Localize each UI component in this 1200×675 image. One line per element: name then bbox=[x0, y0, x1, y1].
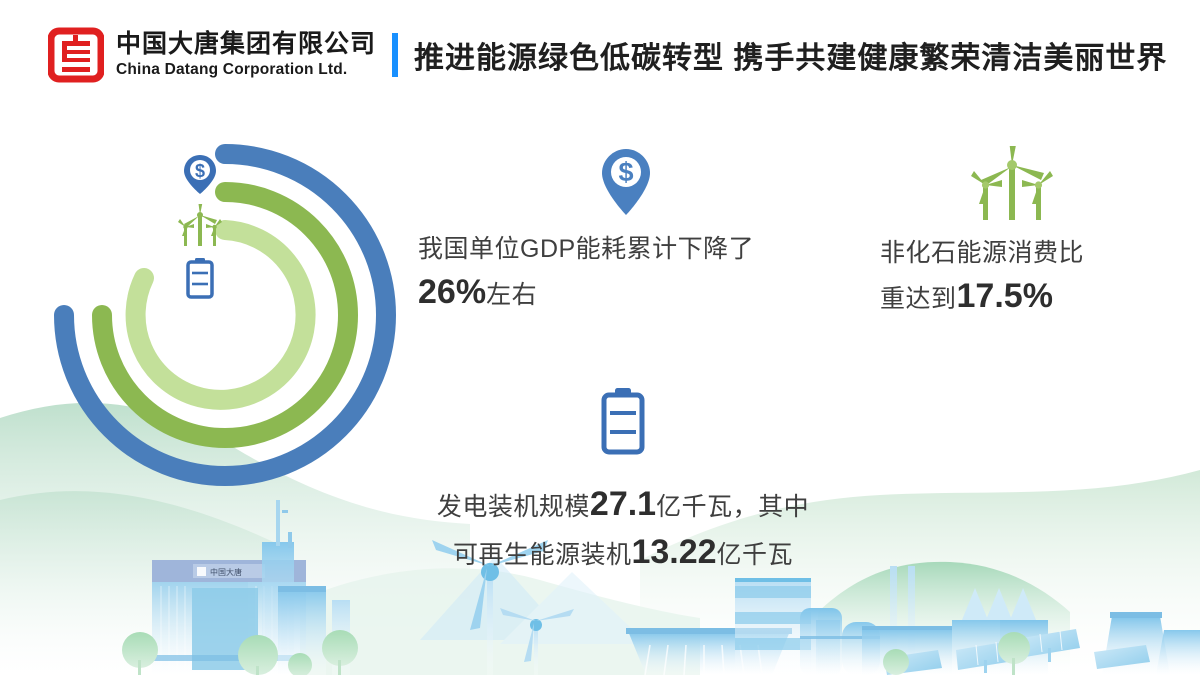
stat-nonfossil-prefix: 重达到 bbox=[880, 285, 957, 313]
header-divider bbox=[392, 33, 398, 77]
stat-capacity-line2-prefix: 可再生能源装机 bbox=[453, 541, 632, 569]
svg-text:$: $ bbox=[618, 157, 633, 187]
stat-nonfossil-value: 17.5% bbox=[957, 277, 1053, 315]
infographic-poster: 中国大唐 bbox=[0, 0, 1200, 675]
stat-block-nonfossil: 非化石能源消费比 重达到17.5% bbox=[866, 146, 1158, 320]
wind-turbine-icon bbox=[970, 146, 1054, 220]
stat-capacity-value2: 13.22 bbox=[631, 533, 716, 571]
stat-block-capacity: 发电装机规模27.1亿千瓦，其中 可再生能源装机13.22亿千瓦 bbox=[392, 386, 854, 577]
stat-capacity-line1-prefix: 发电装机规模 bbox=[437, 493, 590, 521]
stat-capacity-line1: 发电装机规模27.1亿千瓦，其中 bbox=[392, 480, 854, 528]
header-bar: 中国大唐集团有限公司 China Datang Corporation Ltd.… bbox=[0, 0, 1200, 110]
stat-capacity-line2: 可再生能源装机13.22亿千瓦 bbox=[392, 528, 854, 576]
datang-tang-seal-logo bbox=[48, 27, 104, 83]
stat-nonfossil-icon-wrap bbox=[866, 146, 1158, 220]
svg-text:$: $ bbox=[195, 161, 205, 181]
stat-capacity-line1-suffix: 亿千瓦，其中 bbox=[656, 493, 809, 521]
dollar-pin-icon: $ bbox=[180, 152, 220, 196]
stat-nonfossil-line1: 非化石能源消费比 bbox=[880, 236, 1158, 272]
brand-name-block: 中国大唐集团有限公司 China Datang Corporation Ltd. bbox=[116, 32, 376, 78]
stat-capacity-value1: 27.1 bbox=[590, 485, 656, 523]
stat-gdp-suffix: 左右 bbox=[486, 281, 537, 309]
dollar-pin-icon: $ bbox=[596, 146, 656, 218]
stat-gdp-line2: 26%左右 bbox=[418, 268, 848, 316]
brand-name-en: China Datang Corporation Ltd. bbox=[116, 62, 376, 78]
building-sign-text: 中国大唐 bbox=[210, 567, 242, 577]
ring-icon-stack: $ bbox=[168, 152, 232, 300]
wind-turbine-icon bbox=[177, 204, 223, 246]
stat-nonfossil-text: 非化石能源消费比 重达到17.5% bbox=[866, 236, 1158, 320]
stat-capacity-line2-suffix: 亿千瓦 bbox=[717, 541, 794, 569]
stat-capacity-icon-wrap bbox=[392, 386, 854, 458]
battery-icon bbox=[598, 386, 648, 458]
stat-nonfossil-line2: 重达到17.5% bbox=[880, 272, 1158, 320]
stat-gdp-value: 26% bbox=[418, 273, 486, 311]
stat-gdp-line1: 我国单位GDP能耗累计下降了 bbox=[418, 232, 848, 268]
stat-capacity-text: 发电装机规模27.1亿千瓦，其中 可再生能源装机13.22亿千瓦 bbox=[392, 480, 854, 577]
brand-name-cn: 中国大唐集团有限公司 bbox=[116, 32, 376, 57]
header-slogan: 推进能源绿色低碳转型 携手共建健康繁荣清洁美丽世界 bbox=[414, 33, 1167, 77]
stat-gdp-text: 我国单位GDP能耗累计下降了 26%左右 bbox=[404, 232, 848, 316]
battery-icon bbox=[184, 256, 216, 300]
stat-block-gdp: $ 我国单位GDP能耗累计下降了 26%左右 bbox=[404, 146, 848, 316]
stat-gdp-icon-wrap: $ bbox=[404, 146, 848, 218]
